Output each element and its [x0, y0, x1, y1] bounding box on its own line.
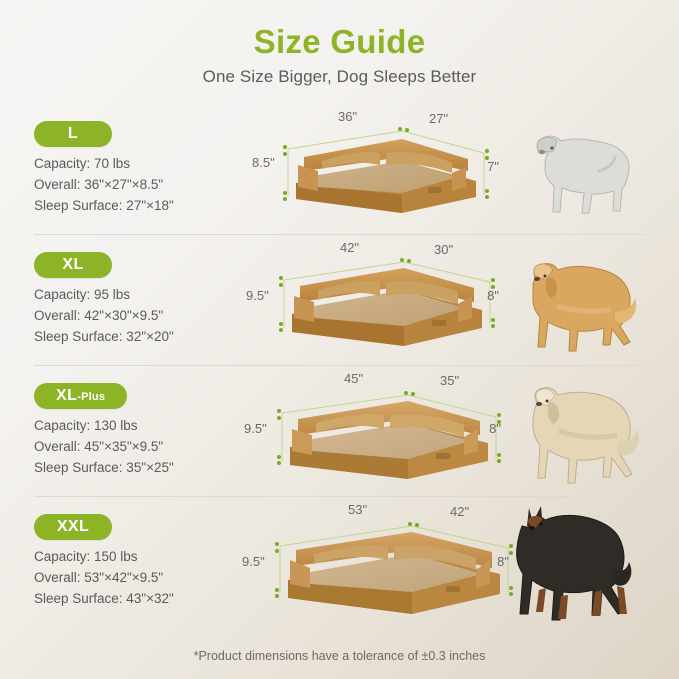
spec-capacity: Capacity: 150 lbs — [34, 547, 252, 568]
size-info-xl-plus: XL -Plus Capacity: 130 lbs Overall: 45"×… — [34, 383, 252, 479]
bed-illustration-xl: 42" 30" 9.5" 8" — [252, 240, 495, 360]
spec-capacity: Capacity: 130 lbs — [34, 416, 252, 437]
spec-sleep-surface: Sleep Surface: 35"×25" — [34, 458, 252, 479]
size-info-xl: XL Capacity: 95 lbs Overall: 42"×30"×9.5… — [34, 252, 252, 348]
spec-capacity: Capacity: 70 lbs — [34, 154, 252, 175]
dim-depth-label: 35" — [440, 373, 459, 388]
dim-width-label: 45" — [344, 371, 363, 386]
dim-height-left-label: 9.5" — [246, 288, 269, 303]
dog-bed-image — [252, 240, 520, 360]
dim-height-left-label: 9.5" — [244, 421, 267, 436]
size-row-l: L Capacity: 70 lbs Overall: 36"×27"×8.5"… — [0, 103, 679, 234]
size-row-xxl: XXL Capacity: 150 lbs Overall: 53"×42"×9… — [0, 496, 679, 627]
dog-photo-yellow-labrador — [495, 373, 645, 488]
size-badge-xxl: XXL — [34, 514, 112, 540]
spec-sleep-surface: Sleep Surface: 43"×32" — [34, 589, 252, 610]
size-rows: L Capacity: 70 lbs Overall: 36"×27"×8.5"… — [0, 103, 679, 627]
dog-photo-white-bulldog — [495, 111, 645, 226]
dog-bed-image — [252, 109, 512, 229]
badge-label-sub: -Plus — [77, 391, 105, 403]
bed-illustration-xxl: 53" 42" 9.5" 8" — [252, 502, 495, 622]
dim-depth-label: 30" — [434, 242, 453, 257]
size-badge-l: L — [34, 121, 112, 147]
dog-bed-image — [252, 502, 534, 626]
spec-capacity: Capacity: 95 lbs — [34, 285, 252, 306]
dim-width-label: 42" — [340, 240, 359, 255]
bed-illustration-l: 36" 27" 8.5" 7" — [252, 109, 495, 229]
size-row-xl-plus: XL -Plus Capacity: 130 lbs Overall: 45"×… — [0, 365, 679, 496]
dim-width-label: 36" — [338, 109, 357, 124]
dog-photo-doberman — [495, 504, 645, 619]
size-row-xl: XL Capacity: 95 lbs Overall: 42"×30"×9.5… — [0, 234, 679, 365]
footer-note: *Product dimensions have a tolerance of … — [0, 649, 679, 663]
size-info-xxl: XXL Capacity: 150 lbs Overall: 53"×42"×9… — [34, 514, 252, 610]
bed-illustration-xl-plus: 45" 35" 9.5" 8" — [252, 371, 495, 491]
size-info-l: L Capacity: 70 lbs Overall: 36"×27"×8.5"… — [34, 121, 252, 217]
badge-label-main: XL — [62, 256, 83, 274]
spec-overall: Overall: 42"×30"×9.5" — [34, 306, 252, 327]
dog-bed-image — [252, 371, 526, 493]
badge-label-main: XXL — [57, 518, 89, 536]
size-badge-xl-plus: XL -Plus — [34, 383, 127, 409]
dim-height-left-label: 9.5" — [242, 554, 265, 569]
header: Size Guide One Size Bigger, Dog Sleeps B… — [0, 0, 679, 87]
spec-sleep-surface: Sleep Surface: 32"×20" — [34, 327, 252, 348]
dog-photo-golden-retriever — [495, 242, 645, 357]
size-badge-xl: XL — [34, 252, 112, 278]
dim-depth-label: 42" — [450, 504, 469, 519]
page-title: Size Guide — [0, 24, 679, 60]
dim-height-left-label: 8.5" — [252, 155, 275, 170]
spec-sleep-surface: Sleep Surface: 27"×18" — [34, 196, 252, 217]
badge-label-main: XL — [56, 387, 77, 405]
badge-label-main: L — [68, 125, 78, 143]
size-guide-page: Size Guide One Size Bigger, Dog Sleeps B… — [0, 0, 679, 679]
spec-overall: Overall: 45"×35"×9.5" — [34, 437, 252, 458]
dim-width-label: 53" — [348, 502, 367, 517]
dim-depth-label: 27" — [429, 111, 448, 126]
spec-overall: Overall: 53"×42"×9.5" — [34, 568, 252, 589]
spec-overall: Overall: 36"×27"×8.5" — [34, 175, 252, 196]
page-subtitle: One Size Bigger, Dog Sleeps Better — [0, 67, 679, 87]
